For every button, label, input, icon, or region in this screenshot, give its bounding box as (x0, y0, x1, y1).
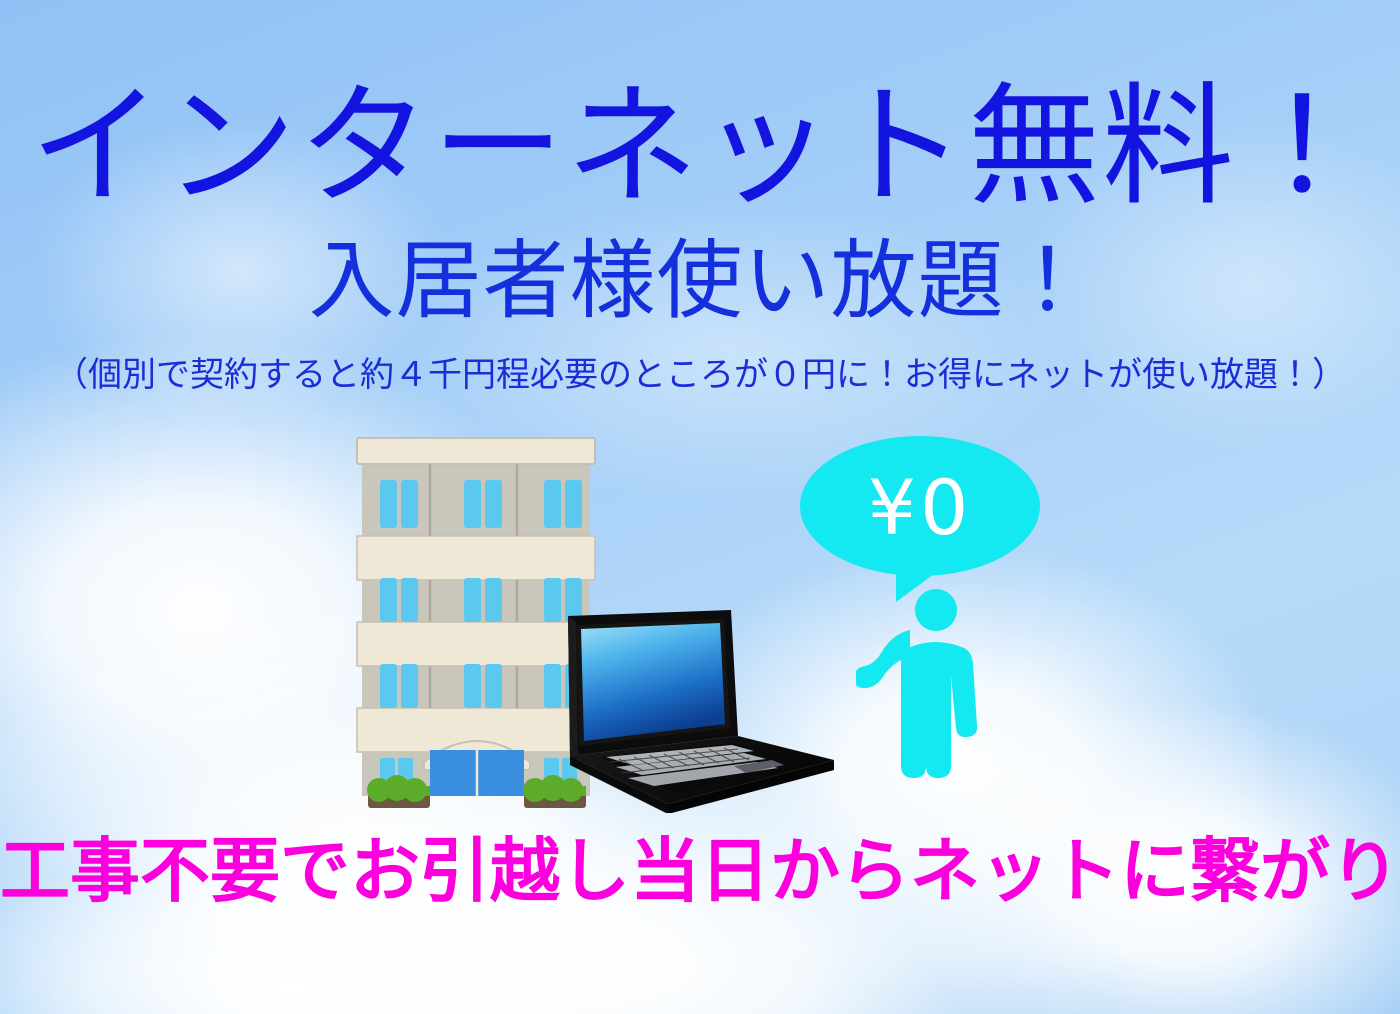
headline-internet-free: インターネット無料！ (0, 78, 1400, 217)
note-price-comparison: （個別で契約すると約４千円程必要のところが０円に！お得にネットが使い放題！） (0, 355, 1400, 396)
person-silhouette-illustration (856, 588, 992, 820)
laptop-illustration (556, 608, 841, 817)
subheadline-unlimited-use: 入居者様使い放題！ (0, 235, 1400, 328)
price-speech-bubble: ¥0 (796, 434, 1044, 606)
poster-canvas: インターネット無料！ 入居者様使い放題！ （個別で契約すると約４千円程必要のとこ… (0, 0, 1400, 1014)
tagline-no-construction: 工事不要でお引越し当日からネットに繋がります (0, 833, 1400, 910)
